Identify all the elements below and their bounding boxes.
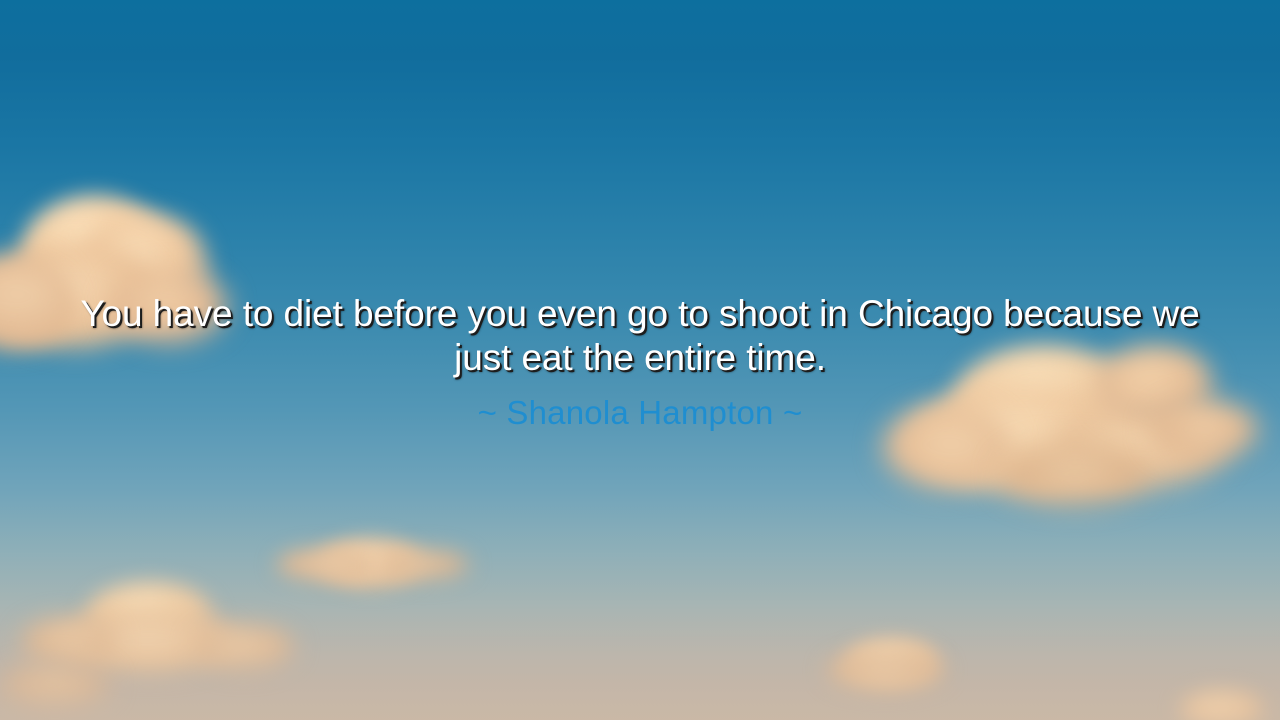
- quote-block: You have to diet before you even go to s…: [0, 292, 1280, 432]
- attribution-text: ~ Shanola Hampton ~: [0, 394, 1280, 432]
- quote-image-canvas: You have to diet before you even go to s…: [0, 0, 1280, 720]
- horizon-haze: [0, 490, 1280, 720]
- quote-text: You have to diet before you even go to s…: [0, 292, 1280, 380]
